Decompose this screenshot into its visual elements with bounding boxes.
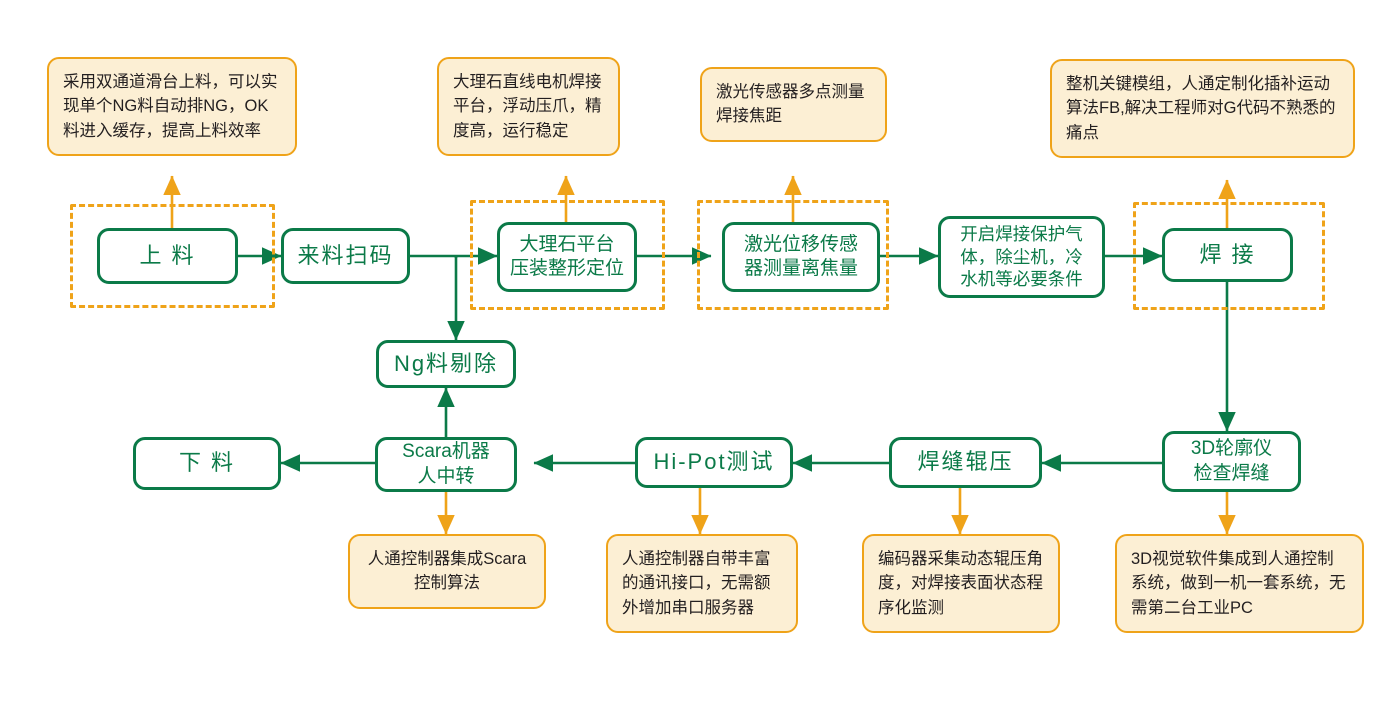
node-seam-rolling[interactable]: 焊缝辊压 [889, 437, 1042, 488]
node-marble-platform[interactable]: 大理石平台 压装整形定位 [497, 222, 637, 292]
node-welding[interactable]: 焊 接 [1162, 228, 1293, 282]
callout-scara: 人通控制器集成Scara控制算法 [348, 534, 546, 609]
callout-3d-profiler: 3D视觉软件集成到人通控制系统，做到一机一套系统，无需第二台工业PC [1115, 534, 1364, 633]
node-laser-displacement[interactable]: 激光位移传感 器测量离焦量 [722, 222, 880, 292]
node-unloading[interactable]: 下 料 [133, 437, 281, 490]
flowchart-canvas: 采用双通道滑台上料，可以实现单个NG料自动排NG，OK料进入缓存，提高上料效率 … [0, 0, 1400, 705]
node-weld-protection[interactable]: 开启焊接保护气 体，除尘机，冷 水机等必要条件 [938, 216, 1105, 298]
node-ng-reject[interactable]: Ng料剔除 [376, 340, 516, 388]
callout-seam-rolling: 编码器采集动态辊压角度，对焊接表面状态程序化监测 [862, 534, 1060, 633]
node-scara-transfer[interactable]: Scara机器 人中转 [375, 437, 517, 492]
callout-laser-sensor: 激光传感器多点测量焊接焦距 [700, 67, 887, 142]
node-hipot-test[interactable]: Hi-Pot测试 [635, 437, 793, 488]
callout-marble-platform: 大理石直线电机焊接平台，浮动压爪，精度高，运行稳定 [437, 57, 620, 156]
node-3d-profiler[interactable]: 3D轮廓仪 检查焊缝 [1162, 431, 1301, 492]
callout-hipot: 人通控制器自带丰富的通讯接口，无需额外增加串口服务器 [606, 534, 798, 633]
node-loading[interactable]: 上 料 [97, 228, 238, 284]
node-incoming-scan[interactable]: 来料扫码 [281, 228, 410, 284]
callout-welding: 整机关键模组，人通定制化插补运动算法FB,解决工程师对G代码不熟悉的痛点 [1050, 59, 1355, 158]
callout-loading: 采用双通道滑台上料，可以实现单个NG料自动排NG，OK料进入缓存，提高上料效率 [47, 57, 297, 156]
